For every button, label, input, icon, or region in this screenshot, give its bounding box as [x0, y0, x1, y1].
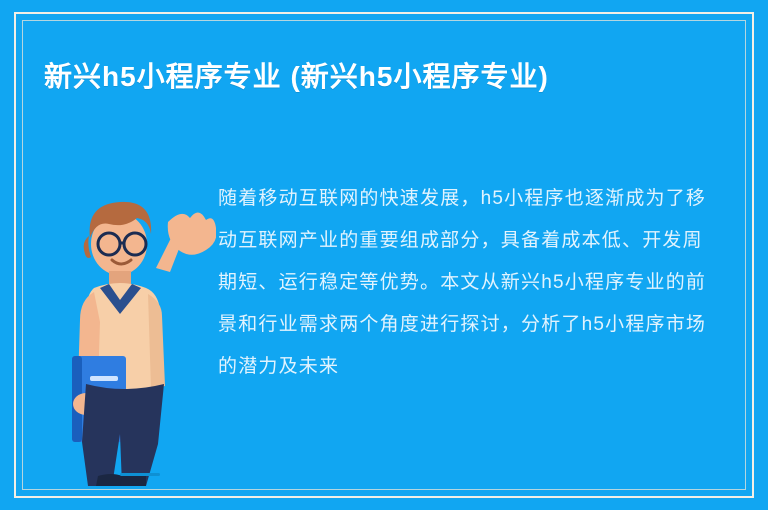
man-waving-with-book-illustration: [56, 176, 216, 486]
document-page: 新兴h5小程序专业 (新兴h5小程序专业): [0, 0, 768, 510]
ground-shadow-line: [120, 473, 160, 476]
page-title: 新兴h5小程序专业 (新兴h5小程序专业): [44, 56, 716, 98]
body-paragraph: 随着移动互联网的快速发展，h5小程序也逐渐成为了移动互联网产业的重要组成部分，具…: [218, 178, 712, 388]
